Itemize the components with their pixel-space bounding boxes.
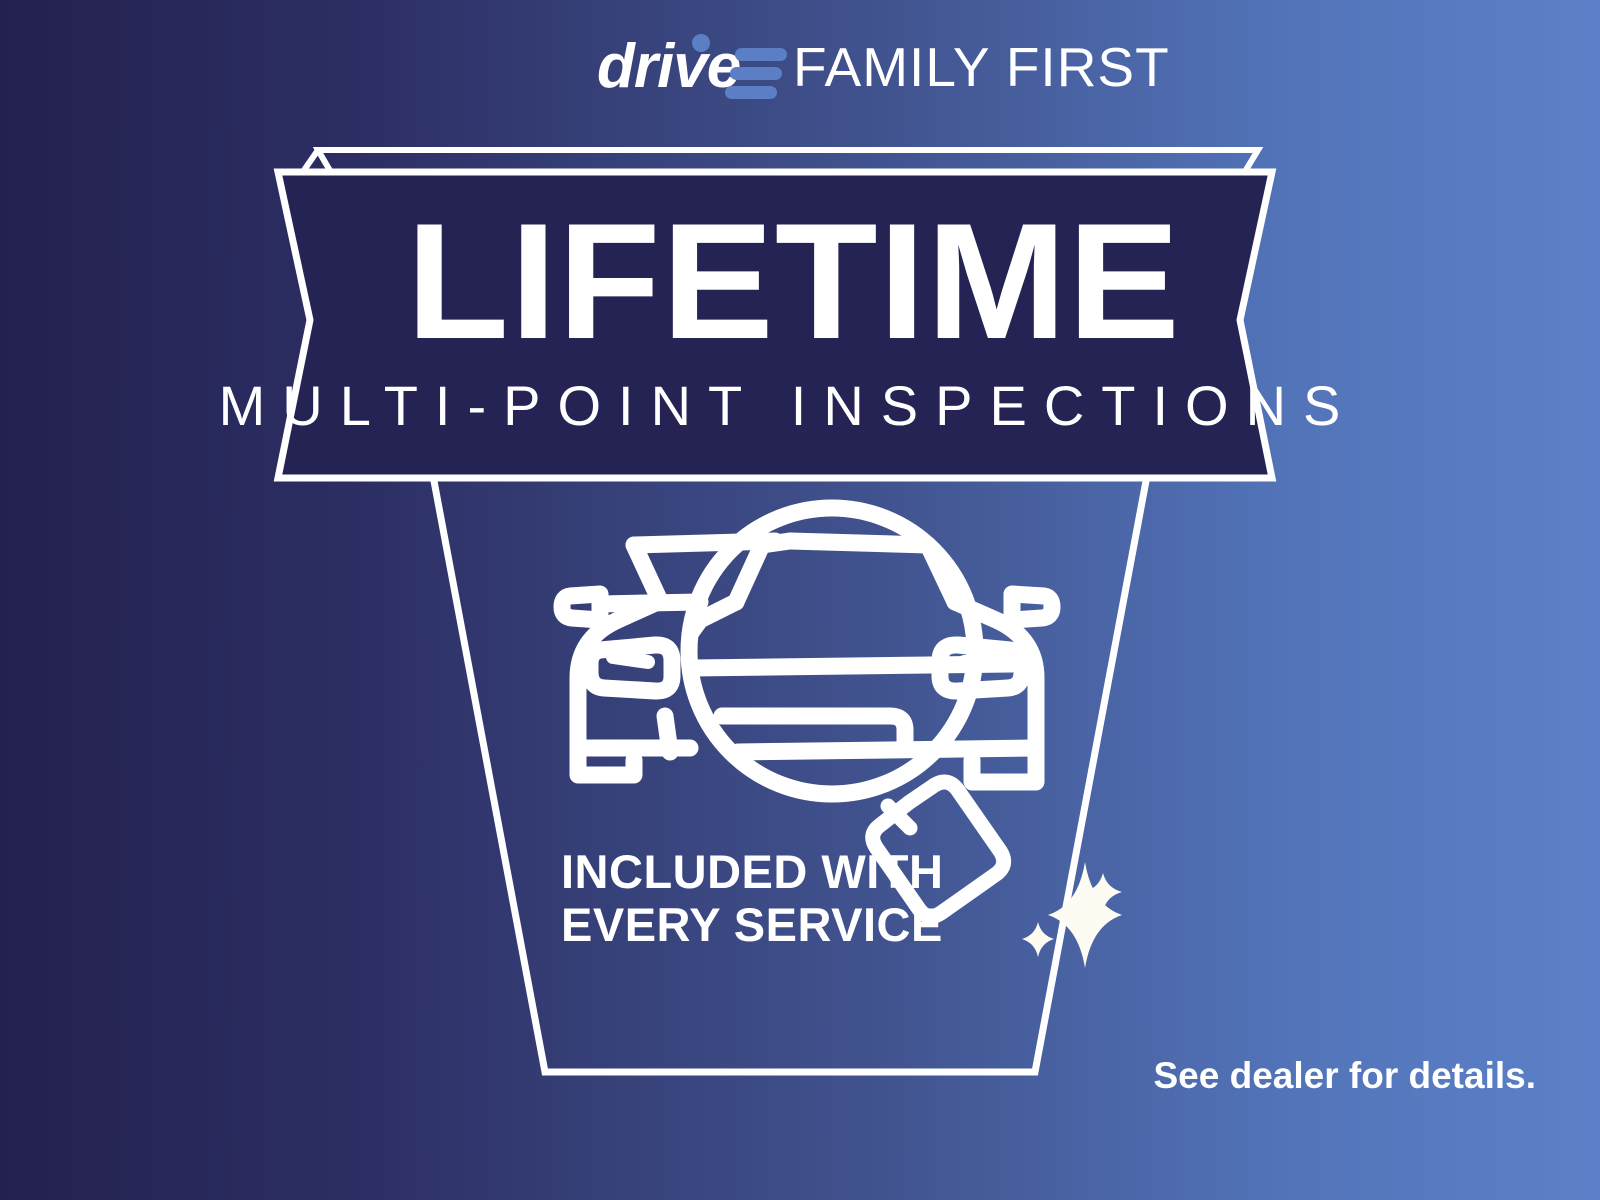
brand-logo[interactable]: drive FAMILY FIRST (597, 32, 1170, 101)
badge-caption-line2: EVERY SERVICE (561, 898, 943, 951)
logo-wordmark: drive (597, 32, 740, 101)
logo-i-dot (692, 34, 710, 52)
logo-tagline: FAMILY FIRST (793, 36, 1170, 98)
badge-caption-line1: INCLUDED WITH (561, 845, 943, 898)
promo-graphic: LIFETIME MULTI-POINT INSPECTIONS (0, 0, 1600, 1200)
disclaimer-text: See dealer for details. (1153, 1055, 1536, 1096)
banner-headline: LIFETIME (406, 189, 1181, 373)
banner-subtitle: MULTI-POINT INSPECTIONS (219, 374, 1358, 437)
poster-canvas: LIFETIME MULTI-POINT INSPECTIONS (0, 0, 1600, 1200)
